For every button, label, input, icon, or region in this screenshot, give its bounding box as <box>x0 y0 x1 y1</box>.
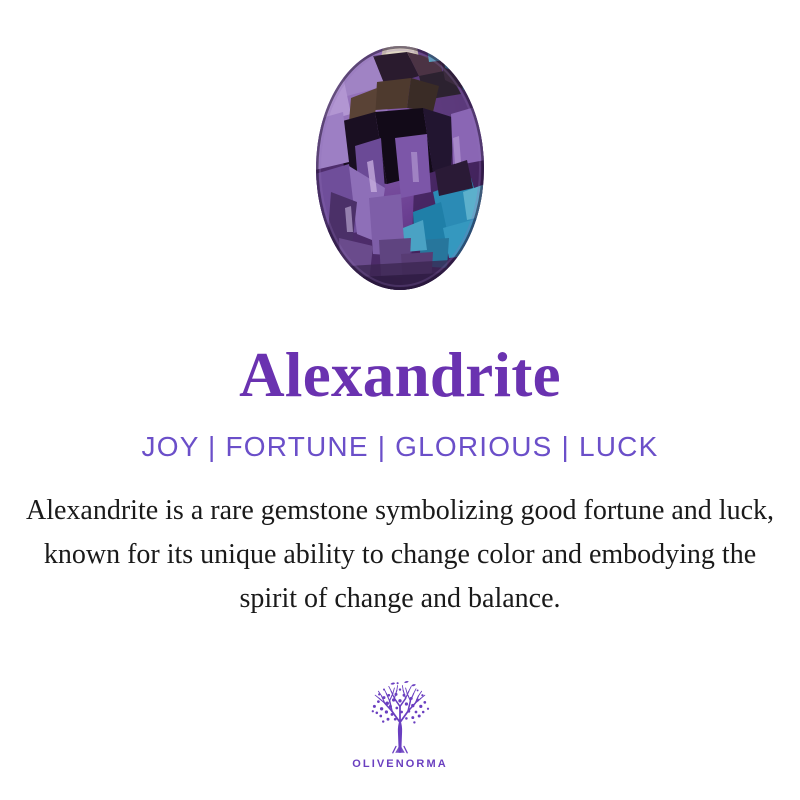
brand-name: OLIVENORMA <box>352 758 448 770</box>
gemstone-stage <box>315 42 485 292</box>
alexandrite-gemstone-icon <box>315 42 485 292</box>
tree-of-life-icon <box>360 676 440 756</box>
gemstone-title: Alexandrite <box>239 344 561 407</box>
gemstone-image-area <box>0 0 800 300</box>
gemstone-description: Alexandrite is a rare gemstone symbolizi… <box>20 489 780 621</box>
gemstone-keywords: JOY | FORTUNE | GLORIOUS | LUCK <box>142 433 659 461</box>
gemstone-info-card: Alexandrite JOY | FORTUNE | GLORIOUS | L… <box>0 0 800 800</box>
brand-logo: OLIVENORMA <box>0 676 800 770</box>
